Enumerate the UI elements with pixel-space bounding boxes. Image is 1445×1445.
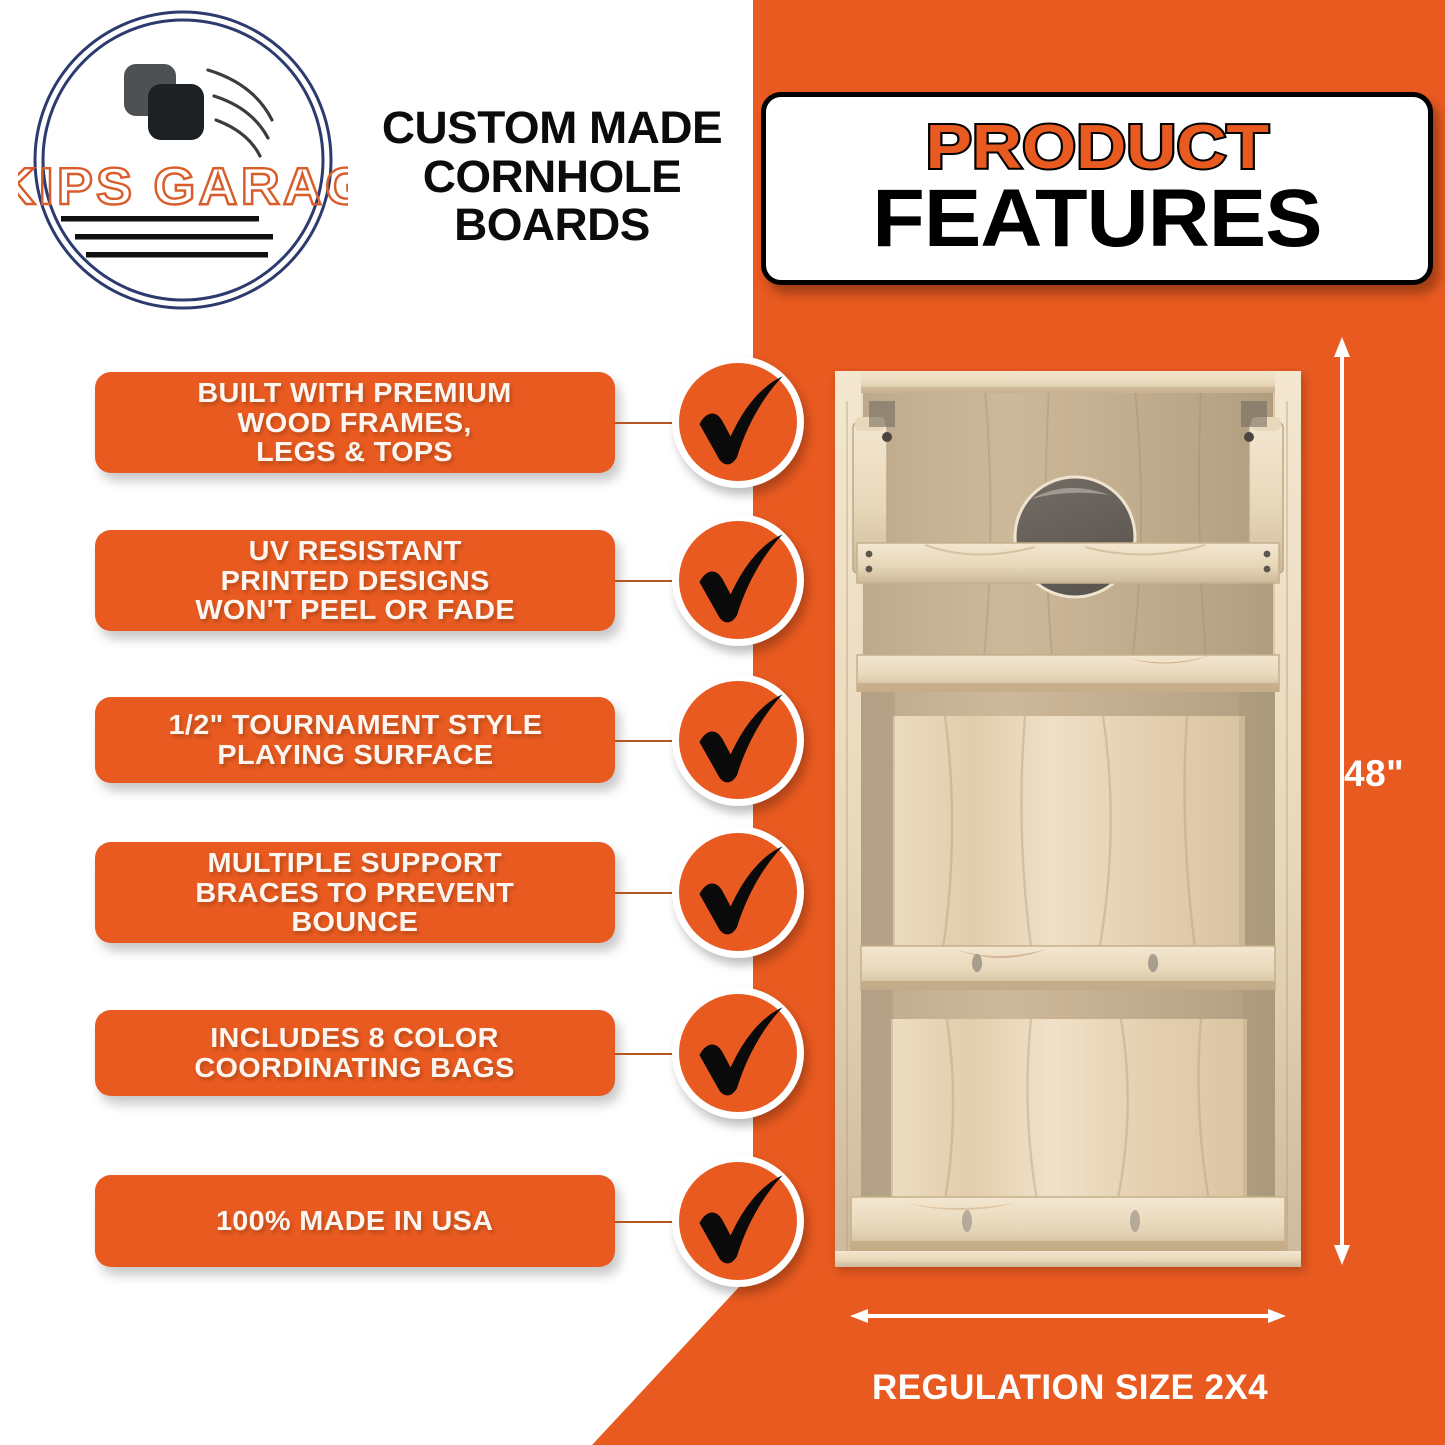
feature-line: WON'T PEEL OR FADE bbox=[195, 594, 515, 625]
width-label: 24" bbox=[0, 1290, 440, 1329]
feature-pill-included-bags: INCLUDES 8 COLOR COORDINATING BAGS bbox=[95, 1010, 615, 1096]
feature-line: COORDINATING BAGS bbox=[195, 1052, 515, 1083]
feature-line: PLAYING SURFACE bbox=[217, 739, 493, 770]
height-label: 48" bbox=[1344, 753, 1404, 795]
feature-line: BUILT WITH PREMIUM bbox=[198, 377, 512, 408]
feature-line: LEGS & TOPS bbox=[257, 436, 454, 467]
check-icon bbox=[687, 840, 791, 944]
width-arrow-icon bbox=[848, 1306, 1288, 1326]
headline-line-2: CORNHOLE bbox=[348, 153, 756, 202]
check-icon bbox=[687, 528, 791, 632]
feature-check-badge-uv-resistant bbox=[672, 514, 804, 646]
feature-pill-support-braces: MULTIPLE SUPPORT BRACES TO PREVENT BOUNC… bbox=[95, 842, 615, 943]
feature-line: WOOD FRAMES, bbox=[238, 407, 472, 438]
banner-word-product: PRODUCT bbox=[925, 119, 1268, 178]
feature-check-badge-playing-surface bbox=[672, 674, 804, 806]
feature-text-made-in-usa: 100% MADE IN USA bbox=[216, 1206, 493, 1236]
regulation-size-note: REGULATION SIZE 2X4 bbox=[790, 1368, 1350, 1408]
feature-check-badge-made-in-usa bbox=[672, 1155, 804, 1287]
feature-text-support-braces: MULTIPLE SUPPORT BRACES TO PREVENT BOUNC… bbox=[196, 848, 515, 937]
feature-check-badge-support-braces bbox=[672, 826, 804, 958]
feature-line: PRINTED DESIGNS bbox=[220, 565, 489, 596]
feature-pill-playing-surface: 1/2" TOURNAMENT STYLE PLAYING SURFACE bbox=[95, 697, 615, 783]
cornhole-board-underside-photo bbox=[835, 371, 1301, 1267]
feature-text-included-bags: INCLUDES 8 COLOR COORDINATING BAGS bbox=[195, 1023, 515, 1082]
feature-row-made-in-usa: 100% MADE IN USA bbox=[0, 1175, 840, 1295]
feature-pill-premium-wood: BUILT WITH PREMIUM WOOD FRAMES, LEGS & T… bbox=[95, 372, 615, 473]
height-arrow-icon bbox=[1330, 335, 1354, 1267]
check-icon bbox=[687, 1001, 791, 1105]
feature-pill-uv-resistant: UV RESISTANT PRINTED DESIGNS WON'T PEEL … bbox=[95, 530, 615, 631]
feature-line: BOUNCE bbox=[292, 906, 419, 937]
feature-check-badge-included-bags bbox=[672, 987, 804, 1119]
dimension-width bbox=[848, 1292, 1288, 1338]
check-icon bbox=[687, 370, 791, 474]
feature-pill-made-in-usa: 100% MADE IN USA bbox=[95, 1175, 615, 1267]
feature-row-playing-surface: 1/2" TOURNAMENT STYLE PLAYING SURFACE bbox=[0, 697, 840, 817]
dimension-height: 48" bbox=[1316, 335, 1378, 1267]
feature-row-uv-resistant: UV RESISTANT PRINTED DESIGNS WON'T PEEL … bbox=[0, 530, 840, 650]
headline-line-3: BOARDS bbox=[348, 201, 756, 250]
banner-word-features: FEATURES bbox=[872, 180, 1321, 258]
feature-line: INCLUDES 8 COLOR bbox=[211, 1022, 500, 1053]
feature-line: MULTIPLE SUPPORT bbox=[208, 847, 502, 878]
feature-line: UV RESISTANT bbox=[248, 535, 461, 566]
headline-line-1: CUSTOM MADE bbox=[348, 104, 756, 153]
check-icon bbox=[687, 1169, 791, 1273]
feature-text-playing-surface: 1/2" TOURNAMENT STYLE PLAYING SURFACE bbox=[168, 710, 542, 769]
feature-line: 100% MADE IN USA bbox=[216, 1205, 493, 1236]
feature-check-badge-premium-wood bbox=[672, 356, 804, 488]
feature-row-premium-wood: BUILT WITH PREMIUM WOOD FRAMES, LEGS & T… bbox=[0, 372, 840, 492]
feature-text-uv-resistant: UV RESISTANT PRINTED DESIGNS WON'T PEEL … bbox=[195, 536, 515, 625]
feature-row-included-bags: INCLUDES 8 COLOR COORDINATING BAGS bbox=[0, 1010, 840, 1130]
feature-row-support-braces: MULTIPLE SUPPORT BRACES TO PREVENT BOUNC… bbox=[0, 842, 840, 962]
feature-line: BRACES TO PREVENT bbox=[196, 877, 515, 908]
svg-text:SKIPS GARAGE: SKIPS GARAGE bbox=[18, 158, 348, 216]
product-features-banner: PRODUCT FEATURES bbox=[761, 92, 1433, 285]
check-icon bbox=[687, 688, 791, 792]
page-title: CUSTOM MADE CORNHOLE BOARDS bbox=[348, 104, 756, 250]
feature-line: 1/2" TOURNAMENT STYLE bbox=[168, 709, 542, 740]
feature-text-premium-wood: BUILT WITH PREMIUM WOOD FRAMES, LEGS & T… bbox=[198, 378, 512, 467]
skips-garage-logo: SKIPS GARAGE bbox=[18, 8, 348, 313]
